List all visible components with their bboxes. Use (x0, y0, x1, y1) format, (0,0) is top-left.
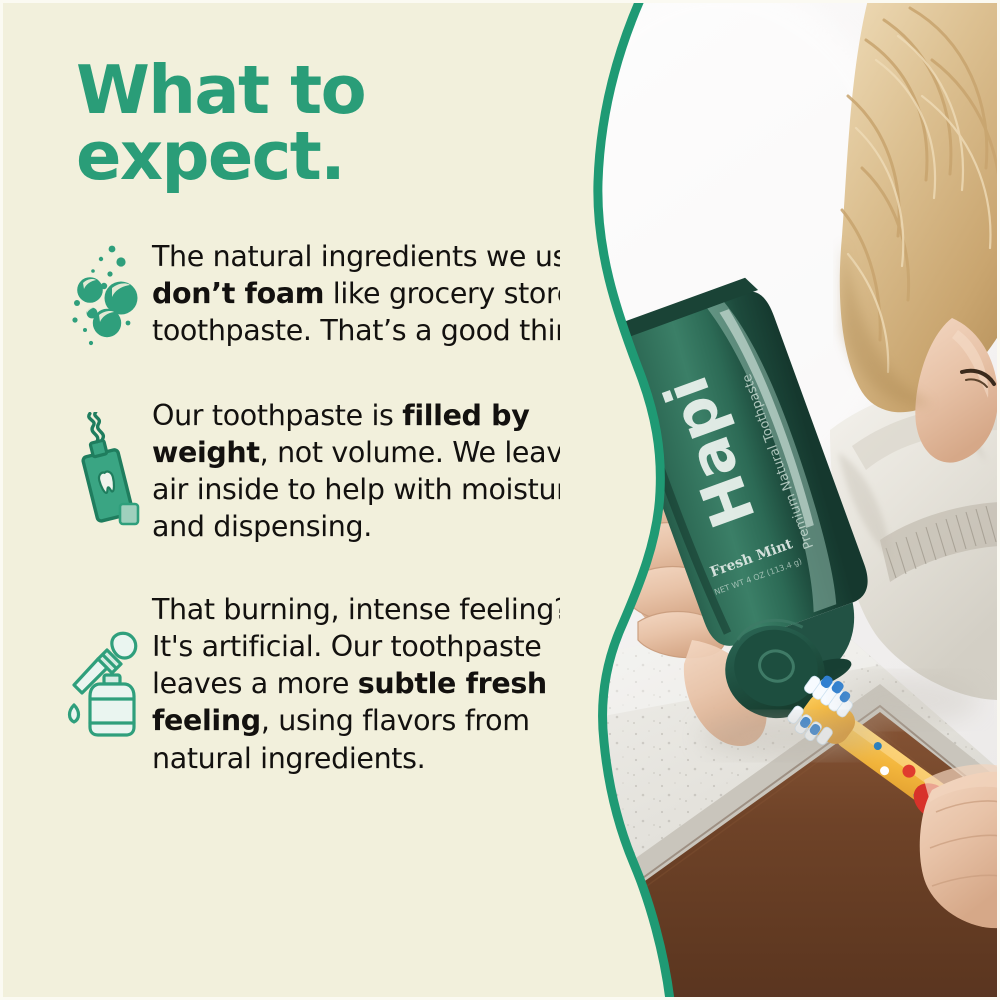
infographic-card: Hapi Premium Natural Toothpaste Fresh Mi… (0, 0, 1000, 1000)
bubbles-icon (62, 240, 154, 348)
list-item: Our toothpaste is filled by weight, not … (0, 397, 620, 545)
list-item: The natural ingredients we use don’t foa… (0, 238, 620, 349)
list-item: That burning, intense feeling? It's arti… (0, 591, 620, 776)
list-item-text: Our toothpaste is filled by weight, not … (152, 397, 600, 545)
page-title: What to expect. (76, 58, 546, 189)
benefits-list: The natural ingredients we use don’t foa… (0, 238, 620, 777)
toothpaste-tube-icon (62, 412, 154, 530)
dropper-bottle-icon (62, 623, 154, 745)
product-photo: Hapi Premium Natural Toothpaste Fresh Mi… (580, 0, 1000, 1000)
list-item-text: That burning, intense feeling? It's arti… (152, 591, 600, 776)
list-item-text: The natural ingredients we use don’t foa… (152, 238, 600, 349)
left-content-column: What to expect. (0, 0, 620, 1000)
